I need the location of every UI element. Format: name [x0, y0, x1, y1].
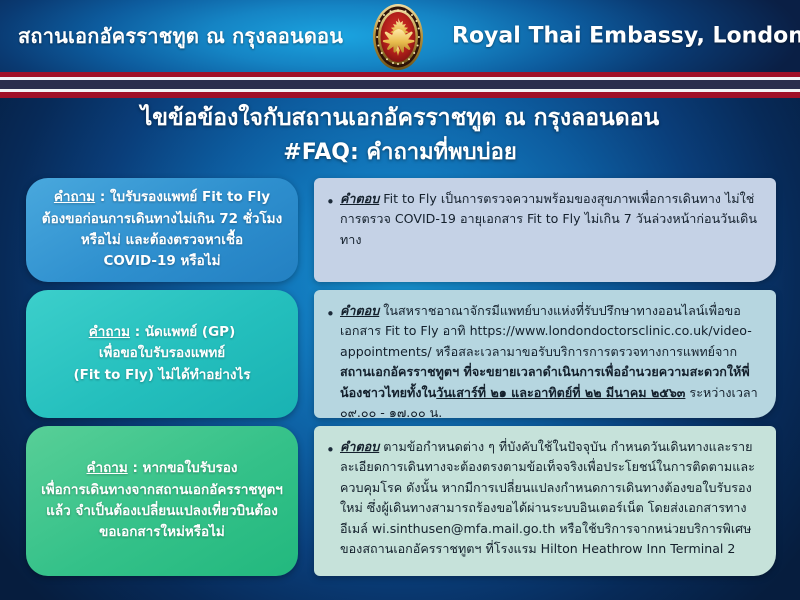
question-lead-label-1: คำถาม	[54, 189, 95, 205]
question-lead-label-3: คำถาม	[86, 460, 127, 476]
answer-text-1: คำตอบ Fit to Fly เป็นการตรวจความพร้อมของ…	[340, 189, 760, 271]
answer-lead-label-1: คำตอบ	[340, 191, 379, 206]
question-text-2: คำถาม : นัดแพทย์ (GP)เพื่อขอใบรับรองแพทย…	[73, 322, 250, 386]
answer-text-3: คำตอบ ตามข้อกำหนดต่าง ๆ ที่บังคับใช้ในปั…	[340, 437, 760, 565]
thai-flag-stripes	[0, 72, 800, 98]
question-text-3: คำถาม : หากขอใบรับรองเพื่อการเดินทางจากส…	[41, 458, 283, 543]
garuda-emblem	[364, 2, 432, 72]
page-subtitle: #FAQ: คำถามที่พบบ่อย	[0, 139, 800, 167]
faq-row-2: คำถาม : นัดแพทย์ (GP)เพื่อขอใบรับรองแพทย…	[0, 290, 800, 418]
question-box-2[interactable]: คำถาม : นัดแพทย์ (GP)เพื่อขอใบรับรองแพทย…	[26, 290, 298, 418]
header-title-english: Royal Thai Embassy, London	[452, 24, 800, 49]
answer-body-1: Fit to Fly เป็นการตรวจความพร้อมของสุขภาพ…	[340, 191, 757, 247]
question-body-3: : หากขอใบรับรองเพื่อการเดินทางจากสถานเอก…	[41, 460, 283, 540]
answer-lead-label-2: คำตอบ	[340, 303, 379, 318]
question-box-3[interactable]: คำถาม : หากขอใบรับรองเพื่อการเดินทางจากส…	[26, 426, 298, 576]
answer-box-2[interactable]: • คำตอบ ในสหราชอาณาจักรมีแพทย์บางแห่งที่…	[314, 290, 776, 418]
question-text-1: คำถาม : ใบรับรองแพทย์ Fit to Flyต้องขอก่…	[42, 187, 282, 272]
header-banner: สถานเอกอัครราชทูต ณ กรุงลอนดอน	[0, 0, 800, 72]
answer-box-3[interactable]: • คำตอบ ตามข้อกำหนดต่าง ๆ ที่บังคับใช้ใน…	[314, 426, 776, 576]
bullet-icon: •	[326, 301, 340, 407]
answer-lead-label-3: คำตอบ	[340, 439, 379, 454]
faq-row-3: คำถาม : หากขอใบรับรองเพื่อการเดินทางจากส…	[0, 426, 800, 576]
page-title: ไขข้อข้องใจกับสถานเอกอัครราชทูต ณ กรุงลอ…	[0, 104, 800, 133]
bullet-icon: •	[326, 189, 340, 271]
page-title-block: ไขข้อข้องใจกับสถานเอกอัครราชทูต ณ กรุงลอ…	[0, 104, 800, 166]
bullet-icon: •	[326, 437, 340, 565]
answer-date-underlined: วันเสาร์ที่ ๒๑ และอาทิตย์ที่ ๒๒ มีนาคม ๒…	[436, 385, 685, 400]
stripe-blue-center	[0, 80, 800, 89]
question-lead-label-2: คำถาม	[89, 324, 130, 340]
answer-box-1[interactable]: • คำตอบ Fit to Fly เป็นการตรวจความพร้อมข…	[314, 178, 776, 282]
header-title-thai: สถานเอกอัครราชทูต ณ กรุงลอนดอน	[18, 20, 343, 52]
answer-body-3: ตามข้อกำหนดต่าง ๆ ที่บังคับใช้ในปัจจุบัน…	[340, 439, 755, 556]
answer-text-2: คำตอบ ในสหราชอาณาจักรมีแพทย์บางแห่งที่รั…	[340, 301, 760, 407]
question-box-1[interactable]: คำถาม : ใบรับรองแพทย์ Fit to Flyต้องขอก่…	[26, 178, 298, 282]
answer-part-2: หรือสละเวลามาขอรับบริการการตรวจทางการแพท…	[432, 344, 738, 359]
faq-infographic-page: สถานเอกอัครราชทูต ณ กรุงลอนดอน	[0, 0, 800, 600]
faq-row-1: คำถาม : ใบรับรองแพทย์ Fit to Flyต้องขอก่…	[0, 178, 800, 282]
stripe-red-bottom	[0, 92, 800, 98]
